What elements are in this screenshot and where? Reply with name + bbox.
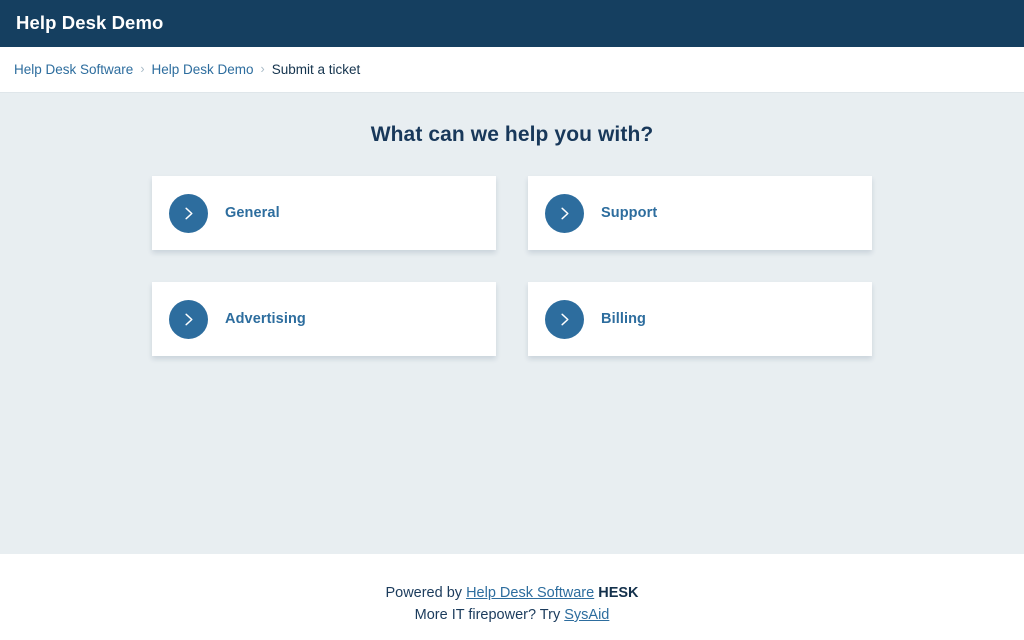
footer-tagline: More IT firepower? Try SysAid [0, 604, 1024, 626]
breadcrumb-item-help-desk-software[interactable]: Help Desk Software [14, 63, 133, 77]
category-label: Billing [601, 311, 646, 327]
page-title: Help Desk Demo [16, 14, 163, 33]
site-header: Help Desk Demo [0, 0, 1024, 47]
category-label: Support [601, 205, 657, 221]
category-label: General [225, 205, 280, 221]
main-content: What can we help you with? General Suppo… [0, 93, 1024, 554]
breadcrumb-bar: Help Desk Software › Help Desk Demo › Su… [0, 47, 1024, 93]
breadcrumb-separator-icon: › [140, 63, 144, 76]
main-heading: What can we help you with? [0, 123, 1024, 147]
category-grid: General Support Advertising [152, 176, 872, 356]
site-footer: Powered by Help Desk Software HESK More … [0, 554, 1024, 640]
footer-sysaid-link[interactable]: SysAid [564, 607, 609, 623]
breadcrumb: Help Desk Software › Help Desk Demo › Su… [14, 63, 360, 77]
footer-tagline-prefix: More IT firepower? Try [415, 607, 565, 623]
breadcrumb-separator-icon: › [261, 63, 265, 76]
chevron-right-icon [169, 300, 208, 339]
page-root: Help Desk Demo Help Desk Software › Help… [0, 0, 1024, 640]
chevron-right-icon [545, 194, 584, 233]
category-card-general[interactable]: General [152, 176, 496, 250]
footer-hesk-label: HESK [594, 585, 638, 601]
category-card-billing[interactable]: Billing [528, 282, 872, 356]
category-card-support[interactable]: Support [528, 176, 872, 250]
footer-help-desk-software-link[interactable]: Help Desk Software [466, 585, 594, 601]
breadcrumb-item-help-desk-demo[interactable]: Help Desk Demo [151, 63, 253, 77]
chevron-right-icon [169, 194, 208, 233]
category-card-advertising[interactable]: Advertising [152, 282, 496, 356]
category-label: Advertising [225, 311, 306, 327]
breadcrumb-item-submit-a-ticket: Submit a ticket [272, 63, 361, 77]
footer-powered-by: Powered by Help Desk Software HESK [0, 582, 1024, 604]
footer-powered-by-prefix: Powered by [385, 585, 466, 601]
chevron-right-icon [545, 300, 584, 339]
